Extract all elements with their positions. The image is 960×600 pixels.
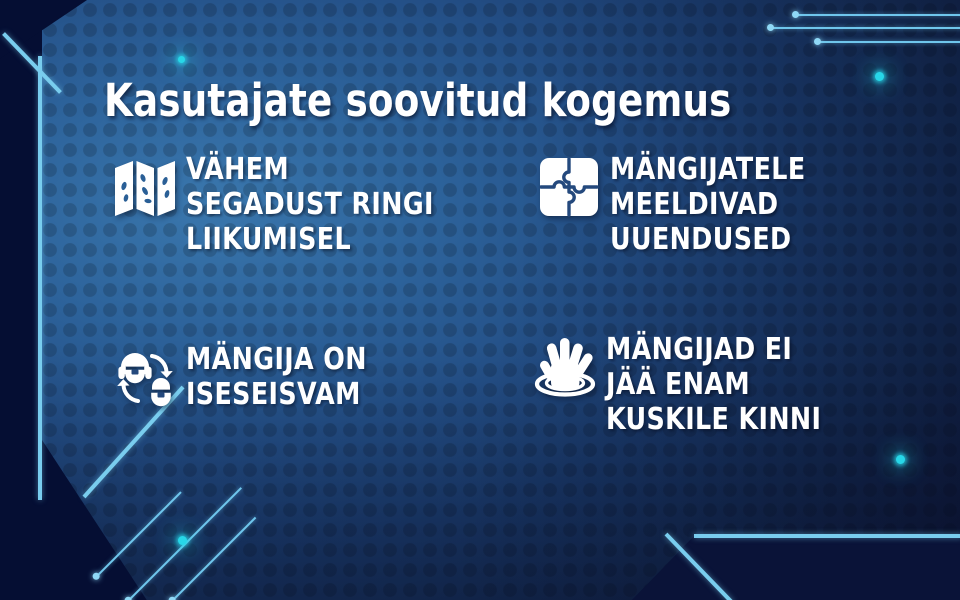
feature-item-puzzle: Mängijatele meeldivad uuendused	[528, 150, 818, 257]
hand-in-ripple-icon	[524, 330, 606, 404]
feature-label-map: Vähem segadust ringi liikumisel	[186, 150, 434, 257]
feature-label-support: Mängija on iseseisvam	[186, 340, 367, 412]
deco-line-top-2	[770, 27, 960, 29]
feature-item-support: Mängija on iseseisvam	[104, 340, 378, 412]
frame-stroke-left	[38, 56, 42, 500]
feature-label-puzzle: Mängijatele meeldivad uuendused	[610, 150, 806, 257]
glow-dot-top-left	[178, 56, 185, 63]
feature-label-stuck: Mängijad ei jää enam kuskile kinni	[606, 330, 821, 437]
feature-item-map: Vähem segadust ringi liikumisel	[104, 150, 450, 257]
deco-line-top-3	[817, 41, 960, 43]
glow-dot-top-right	[875, 72, 884, 81]
support-handoff-icon	[104, 340, 186, 410]
page-title: Kasutajate soovitud kogemus	[104, 74, 732, 127]
feature-item-stuck: Mängijad ei jää enam kuskile kinni	[524, 330, 835, 437]
deco-line-top-1	[795, 14, 960, 16]
frame-panel-left	[0, 0, 42, 500]
glow-dot-bottom-left	[178, 536, 187, 545]
frame-stroke-bottom-right-horizontal	[694, 534, 960, 538]
slide-canvas: Kasutajate soovitud kogemus	[0, 0, 960, 600]
puzzle-pieces-icon	[528, 150, 610, 220]
folded-map-icon	[104, 150, 186, 220]
glow-dot-right	[896, 455, 905, 464]
